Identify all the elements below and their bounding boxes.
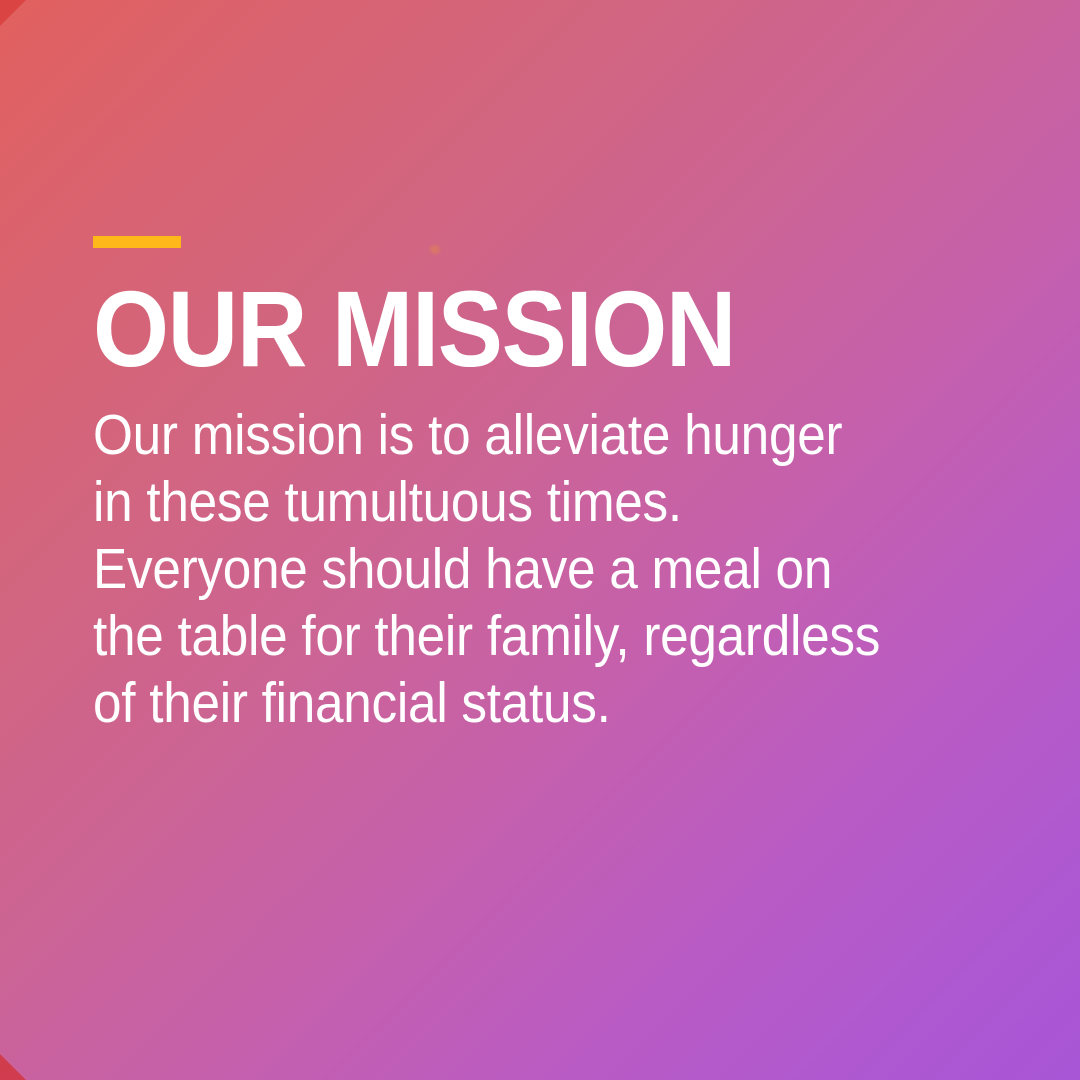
page-title: OUR MISSION bbox=[93, 278, 844, 380]
mission-statement-graphic: OUR MISSION Our mission is to alleviate … bbox=[0, 0, 1080, 1080]
accent-rule bbox=[93, 236, 181, 248]
top-left-corner-artifact bbox=[0, 0, 26, 26]
mission-body-text: Our mission is to alleviate hunger in th… bbox=[93, 402, 894, 737]
content-block: OUR MISSION Our mission is to alleviate … bbox=[93, 236, 923, 737]
bottom-left-corner-artifact bbox=[0, 1054, 26, 1080]
